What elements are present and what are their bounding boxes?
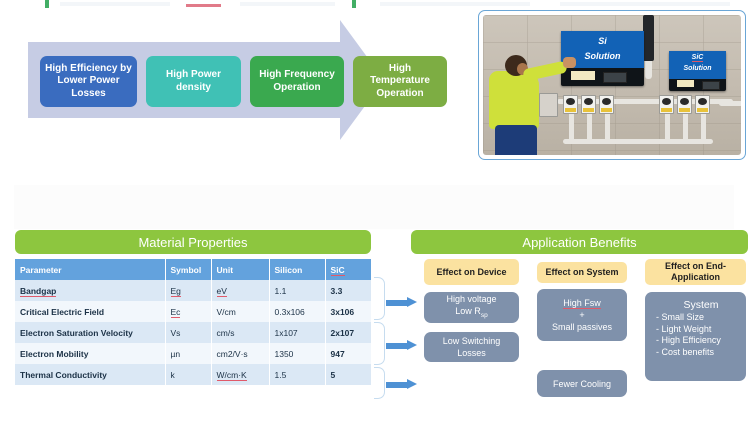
header-effect-on-device: Effect on Device: [424, 259, 519, 285]
background-panel: [14, 185, 734, 229]
si-label-line1: Si: [598, 36, 607, 46]
material-properties-title: Material Properties: [15, 230, 371, 254]
benefit-line2: +: [579, 310, 584, 320]
display-screen: [603, 72, 627, 83]
system-item: - Small Size: [656, 312, 746, 324]
benefit-line2: Low R: [455, 306, 481, 316]
breaker-switch: [677, 95, 692, 114]
cell-sic: 2x107: [325, 322, 371, 343]
benefit-line1: Low Switching: [443, 336, 501, 346]
cell-unit: eV: [211, 280, 269, 301]
cell-symbol: Ec: [165, 301, 211, 322]
breaker-switch: [695, 95, 710, 114]
col-symbol: Symbol: [165, 259, 211, 280]
cell-silicon: 0.3x106: [269, 301, 325, 322]
cutoff-tick: [45, 0, 49, 8]
benefit-system-end-application[interactable]: System - Small Size - Light Weight - Hig…: [645, 292, 746, 381]
display-screen: [702, 81, 720, 90]
header-effect-on-end-application: Effect on End-Application: [645, 259, 746, 285]
installation-photo: Si Solution SiC Solution: [483, 15, 741, 155]
cell-sic: 5: [325, 364, 371, 385]
conduit: [563, 139, 713, 144]
cutoff-ghost-text: [240, 2, 335, 6]
breaker-switch: [581, 95, 596, 114]
breaker-switch: [599, 95, 614, 114]
banner-box-frequency[interactable]: High Frequency Operation: [250, 56, 344, 107]
cell-unit: W/cm·K: [211, 364, 269, 385]
col-unit: Unit: [211, 259, 269, 280]
top-cutoff-strip: [0, 0, 751, 9]
breaker-switch: [659, 95, 674, 114]
cell-sic: 3.3: [325, 280, 371, 301]
header-effect-on-system: Effect on System: [537, 262, 627, 283]
cell-parameter: Bandgap: [15, 280, 165, 301]
si-label-line2: Solution: [585, 51, 621, 61]
sic-label-line1: SiC: [692, 54, 704, 62]
col-parameter: Parameter: [15, 259, 165, 280]
benefit-high-fsw-small-passives[interactable]: High Fsw + Small passives: [537, 289, 627, 341]
col-sic-label: SiC: [331, 265, 345, 276]
cell-silicon: 1x107: [269, 322, 325, 343]
warning-sticker: [571, 71, 595, 80]
table-row: Electron Saturation Velocity Vs cm/s 1x1…: [15, 322, 371, 343]
warning-sticker: [677, 80, 694, 87]
brace-connector: [374, 367, 385, 399]
conduit: [719, 101, 741, 106]
system-title: System: [656, 299, 746, 311]
cell-unit: cm/s: [211, 322, 269, 343]
sic-inverter: SiC Solution: [669, 51, 726, 91]
benefits-arrow-banner: High Efficiency by Lower Power Losses Hi…: [22, 14, 390, 146]
material-properties-table: Parameter Symbol Unit Silicon SiC Bandga…: [15, 259, 372, 385]
table-row: Bandgap Eg eV 1.1 3.3: [15, 280, 371, 301]
cell-unit: V/cm: [211, 301, 269, 322]
breaker-switch: [563, 95, 578, 114]
benefit-text: Low Switching Losses: [443, 335, 501, 359]
cell-parameter: Electron Mobility: [15, 343, 165, 364]
table-header-row: Parameter Symbol Unit Silicon SiC: [15, 259, 371, 280]
cell-silicon: 1.5: [269, 364, 325, 385]
system-item: - Light Weight: [656, 324, 746, 336]
installation-photo-panel: Si Solution SiC Solution: [478, 10, 746, 160]
cable-bundle: [643, 15, 654, 61]
benefit-line1: High Fsw: [563, 298, 601, 309]
cell-silicon: 1350: [269, 343, 325, 364]
benefit-high-voltage-low-rsp[interactable]: High voltage Low Rsp: [424, 292, 519, 323]
banner-box-temperature[interactable]: High Temperature Operation: [353, 56, 447, 107]
benefit-text: High voltage Low Rsp: [446, 293, 496, 322]
cutoff-ghost-text: [380, 2, 530, 6]
technician-pants: [495, 125, 537, 155]
cutoff-tick: [352, 0, 356, 8]
benefit-text: High Fsw + Small passives: [552, 297, 612, 333]
benefit-line1: High voltage: [446, 294, 496, 304]
sic-inverter-label: SiC Solution: [669, 52, 726, 74]
technician-hand: [563, 57, 576, 68]
table-row: Thermal Conductivity k W/cm·K 1.5 5: [15, 364, 371, 385]
cell-symbol: Eg: [165, 280, 211, 301]
brace-connector: [374, 277, 385, 320]
cell-unit: cm2/V·s: [211, 343, 269, 364]
cell-symbol: Vs: [165, 322, 211, 343]
cell-parameter: Thermal Conductivity: [15, 364, 165, 385]
benefit-low-switching-losses[interactable]: Low Switching Losses: [424, 332, 519, 362]
benefit-line2: Losses: [457, 348, 486, 358]
col-silicon: Silicon: [269, 259, 325, 280]
system-item: - Cost benefits: [656, 347, 746, 359]
table-row: Critical Electric Field Ec V/cm 0.3x106 …: [15, 301, 371, 322]
cell-symbol: k: [165, 364, 211, 385]
sic-label-line2: Solution: [684, 65, 712, 72]
benefit-subscript: sp: [481, 312, 488, 319]
system-item: - High Efficiency: [656, 335, 746, 347]
banner-box-efficiency[interactable]: High Efficiency by Lower Power Losses: [40, 56, 137, 107]
brace-connector: [374, 322, 385, 365]
cutoff-redline: [186, 4, 221, 7]
col-sic: SiC: [325, 259, 371, 280]
cell-parameter: Critical Electric Field: [15, 301, 165, 322]
benefit-line3: Small passives: [552, 322, 612, 332]
benefit-fewer-cooling[interactable]: Fewer Cooling: [537, 370, 627, 397]
cell-sic: 947: [325, 343, 371, 364]
cell-symbol: µn: [165, 343, 211, 364]
cell-parameter: Electron Saturation Velocity: [15, 322, 165, 343]
junction-box: [539, 93, 558, 117]
banner-box-power-density[interactable]: High Power density: [146, 56, 241, 107]
table-row: Electron Mobility µn cm2/V·s 1350 947: [15, 343, 371, 364]
cell-silicon: 1.1: [269, 280, 325, 301]
cutoff-ghost-text: [560, 2, 730, 6]
cutoff-ghost-text: [60, 2, 170, 6]
cell-sic: 3x106: [325, 301, 371, 322]
application-benefits-title: Application Benefits: [411, 230, 748, 254]
